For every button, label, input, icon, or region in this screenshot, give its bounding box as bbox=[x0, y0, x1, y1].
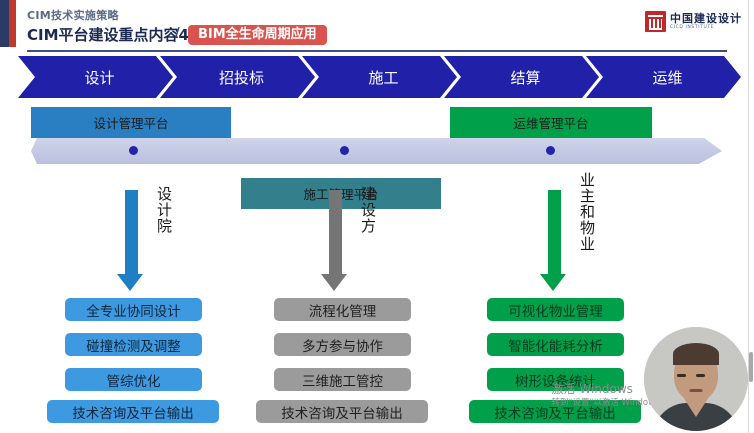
stage-label: 运维 bbox=[652, 67, 682, 88]
list-item[interactable]: 三维施工管控 bbox=[274, 368, 411, 391]
presenter-mouth bbox=[690, 389, 703, 392]
presenter-hair bbox=[673, 343, 719, 365]
platform-bar-operation[interactable]: 运维管理平台 bbox=[450, 107, 652, 138]
platform-label: 设计管理平台 bbox=[93, 113, 168, 132]
platform-label: 运维管理平台 bbox=[513, 113, 588, 132]
stage-label: 结算 bbox=[510, 67, 540, 88]
actor-label-owner: 业主和物业 bbox=[577, 172, 598, 252]
presenter-webcam-overlay[interactable] bbox=[644, 327, 748, 431]
institute-building-icon bbox=[645, 11, 666, 32]
stage-label: 招投标 bbox=[219, 67, 264, 88]
actor-label-design: 设计院 bbox=[154, 186, 175, 234]
list-item[interactable]: 技术咨询及平台输出 bbox=[47, 400, 219, 423]
list-item[interactable]: 全专业协同设计 bbox=[65, 298, 202, 321]
stage-chevron-bidding[interactable]: 招投标 bbox=[160, 56, 315, 98]
header-accent-navy bbox=[0, 0, 9, 47]
list-item[interactable]: 流程化管理 bbox=[274, 298, 411, 321]
list-item[interactable]: 智能化能耗分析 bbox=[487, 333, 624, 356]
status-badge: BIM全生命周期应用 bbox=[188, 25, 327, 45]
logo-text-cn: 中国建设设计 bbox=[670, 13, 742, 24]
timeline-milestone-dot bbox=[340, 146, 349, 155]
stage-chevron-design[interactable]: 设计 bbox=[18, 56, 173, 98]
platform-bar-design[interactable]: 设计管理平台 bbox=[31, 107, 231, 138]
timeline-milestone-dot bbox=[129, 146, 138, 155]
slide-canvas: CIM技术实施策略 CIM平台建设重点内容4 / BIM全生命周期应用 中国建设… bbox=[0, 0, 754, 433]
presenter-eye-right bbox=[696, 374, 705, 377]
list-item[interactable]: 可视化物业管理 bbox=[487, 298, 624, 321]
header-eyebrow: CIM技术实施策略 bbox=[27, 7, 119, 23]
presenter-eye-left bbox=[677, 374, 686, 377]
list-item[interactable]: 管综优化 bbox=[65, 368, 202, 391]
header-separator: / bbox=[175, 26, 180, 41]
vertical-scrollbar-thumb[interactable] bbox=[749, 352, 753, 382]
list-item[interactable]: 技术咨询及平台输出 bbox=[256, 400, 428, 423]
brand-logo: 中国建设设计 CICD INSTITUTE bbox=[645, 11, 742, 32]
list-item[interactable]: 多方参与协作 bbox=[274, 333, 411, 356]
stage-chevron-settlement[interactable]: 结算 bbox=[444, 56, 599, 98]
stage-label: 设计 bbox=[84, 67, 114, 88]
list-item[interactable]: 技术咨询及平台输出 bbox=[469, 400, 641, 423]
vertical-scrollbar-track[interactable] bbox=[748, 0, 754, 433]
stage-label: 施工 bbox=[368, 67, 398, 88]
timeline-milestone-dot bbox=[546, 146, 555, 155]
stage-chevron-construction[interactable]: 施工 bbox=[302, 56, 457, 98]
list-item[interactable]: 碰撞检测及调整 bbox=[65, 333, 202, 356]
header-accent-red bbox=[9, 0, 16, 47]
actor-label-construction: 建设方 bbox=[358, 186, 379, 234]
header-divider bbox=[27, 50, 727, 52]
logo-text-en: CICD INSTITUTE bbox=[670, 26, 742, 31]
page-title: CIM平台建设重点内容4 bbox=[27, 24, 189, 45]
stage-chevron-operation[interactable]: 运维 bbox=[586, 56, 741, 98]
list-item[interactable]: 树形设备统计 bbox=[487, 368, 624, 391]
